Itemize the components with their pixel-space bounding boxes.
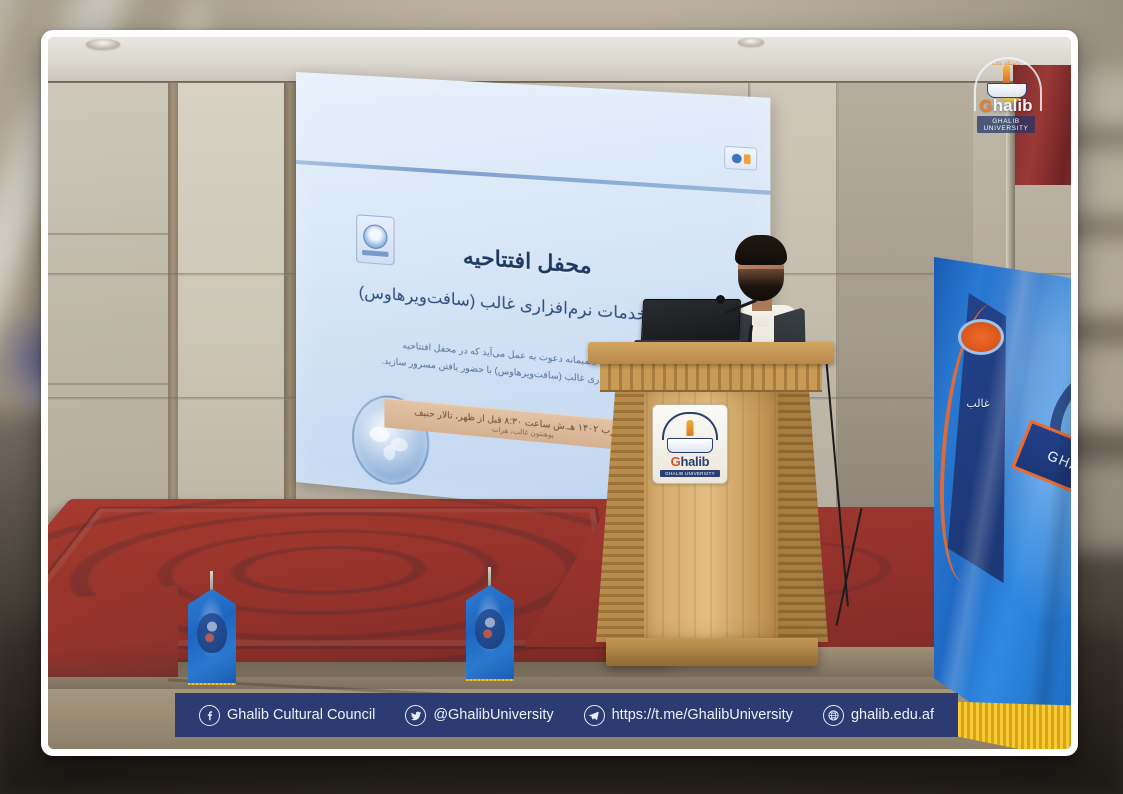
table-flag-left (188, 589, 236, 685)
speaker-beard (738, 269, 784, 301)
wall-middle (174, 83, 294, 523)
ceiling-light-icon (86, 39, 120, 49)
wall-left (48, 83, 176, 523)
emblem-name-rest: halib (680, 454, 709, 469)
wall-post-left (168, 83, 178, 523)
social-label-facebook: Ghalib Cultural Council (227, 707, 375, 723)
podium-emblem-name: Ghalib (671, 455, 710, 468)
wall-seam (48, 383, 176, 385)
social-label-website: ghalib.edu.af (851, 707, 934, 723)
ceiling-light-icon (738, 38, 764, 46)
speaker-hair (735, 235, 787, 265)
flag-cloth-folds (934, 257, 1071, 747)
university-flag: غالب GHALIB U (924, 97, 1071, 717)
flag-cloth (466, 585, 514, 681)
flag-crest-icon (475, 609, 505, 649)
podium-slats (600, 364, 822, 392)
social-item-facebook[interactable]: Ghalib Cultural Council (199, 705, 375, 726)
wall-post-right (284, 83, 296, 523)
social-item-twitter[interactable]: @GhalibUniversity (405, 705, 553, 726)
watermark-name-initial: G (980, 96, 993, 115)
social-item-website[interactable]: ghalib.edu.af (823, 705, 934, 726)
watermark-name: Ghalib (963, 97, 1049, 114)
website-icon (823, 705, 844, 726)
flag-crest-icon (197, 613, 227, 653)
watermark-subtitle: GHALIB UNIVERSITY (977, 116, 1035, 133)
social-item-telegram[interactable]: https://t.me/GhalibUniversity (584, 705, 793, 726)
facebook-icon (199, 705, 220, 726)
slide-divider-line (296, 160, 770, 195)
twitter-icon (405, 705, 426, 726)
podium-base (606, 638, 818, 666)
podium-side-left (596, 390, 644, 642)
podium: Ghalib GHALIB UNIVERSITY (588, 342, 834, 682)
torch-icon (1003, 65, 1010, 83)
laptop-screen (641, 299, 741, 343)
flag-cloth (188, 589, 236, 685)
social-label-telegram: https://t.me/GhalibUniversity (612, 707, 793, 723)
photograph: محفل افتتاحیه شرکت خدمات نرم‌افزاری غالب… (48, 37, 1071, 749)
slide-corner-logo-dot (731, 153, 741, 163)
wall-seam (48, 233, 176, 235)
watermark-name-rest: halib (993, 96, 1033, 115)
microphone-head-icon (716, 295, 725, 304)
social-footer-bar: Ghalib Cultural Council @GhalibUniversit… (175, 693, 958, 737)
table-flag-right (466, 585, 514, 681)
telegram-icon (584, 705, 605, 726)
auditorium-scene: محفل افتتاحیه شرکت خدمات نرم‌افزاری غالب… (48, 37, 1071, 749)
watermark-logo: دانشگاه غالب Ghalib GHALIB UNIVERSITY (963, 53, 1049, 139)
book-icon (667, 438, 713, 453)
emblem-arc (662, 412, 718, 440)
podium-emblem-subtitle: GHALIB UNIVERSITY (660, 470, 720, 477)
podium-university-emblem: Ghalib GHALIB UNIVERSITY (652, 404, 728, 484)
ceiling (48, 37, 1071, 83)
wall-panel-join (836, 83, 839, 523)
emblem-name-initial: G (671, 454, 681, 469)
photo-frame: محفل افتتاحیه شرکت خدمات نرم‌افزاری غالب… (41, 30, 1078, 756)
slide-corner-logo-bar (743, 154, 750, 164)
slide-corner-logo-icon (724, 146, 757, 171)
podium-side-right (778, 390, 828, 642)
social-label-twitter: @GhalibUniversity (433, 707, 553, 723)
podium-top-surface (588, 342, 834, 364)
torch-icon (687, 420, 694, 436)
